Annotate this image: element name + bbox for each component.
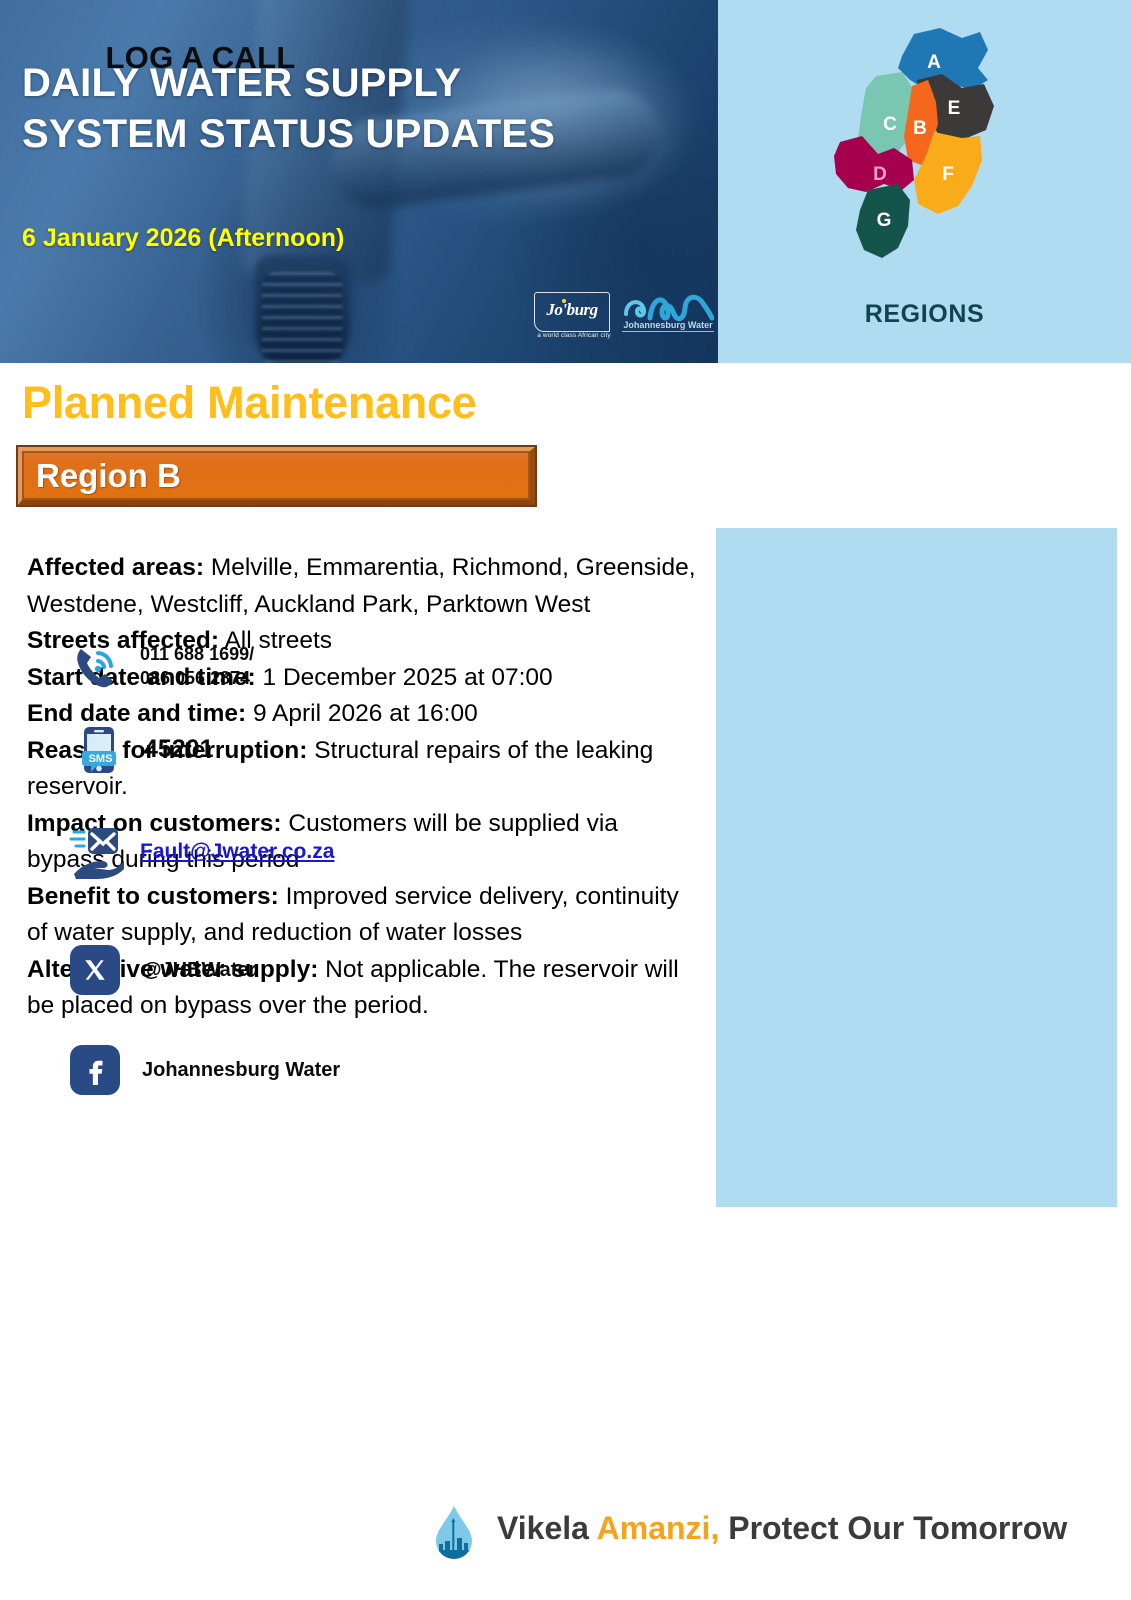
log-a-call-title: LOG A CALL (0, 40, 401, 76)
joburg-tagline: a world class African city (528, 332, 620, 339)
sms-number: 45201 (144, 735, 214, 764)
contact-row-email[interactable]: Fault@Jwater.co.za (68, 825, 334, 879)
region-banner-label: Region B (36, 457, 181, 495)
email-link[interactable]: Fault@Jwater.co.za (140, 840, 334, 864)
regions-caption: REGIONS (718, 300, 1131, 329)
region-e-label: E (948, 98, 961, 119)
contact-row-x[interactable]: @JHBWater (70, 945, 256, 995)
footer-slogan: Vikela Amanzi, Protect Our Tomorrow (497, 1510, 1067, 1547)
joburg-logo-dot (562, 299, 566, 303)
logo-group: Jo'burg a world class African city Johan… (534, 292, 714, 356)
section-title: Planned Maintenance (22, 377, 476, 429)
sms-icon: SMS (72, 722, 126, 776)
footer-slogan-part-1: Vikela (497, 1510, 597, 1546)
region-g-label: G (877, 210, 892, 231)
johannesburg-water-logo-icon: Johannesburg Water (622, 288, 714, 344)
johannesburg-water-logo-text: Johannesburg Water (622, 320, 714, 332)
region-banner: Region B (18, 447, 535, 505)
tap-rings-shape (262, 272, 342, 363)
phone-icon (68, 640, 122, 694)
contact-row-sms[interactable]: SMS 45201 (72, 722, 214, 776)
region-c-label: C (883, 114, 897, 135)
regions-map-icon: A E C B F D G (802, 14, 1052, 294)
region-b-label: B (913, 118, 927, 139)
region-f-label: F (942, 164, 954, 185)
notice-label: Benefit to customers: (27, 883, 279, 910)
facebook-icon (70, 1045, 120, 1095)
page-title-line-2: SYSTEM STATUS UPDATES (22, 109, 692, 160)
joburg-logo-text: Jo'burg (535, 300, 609, 320)
log-a-call-panel (716, 528, 1117, 1207)
email-hand-icon (68, 825, 122, 879)
svg-text:SMS: SMS (89, 753, 113, 765)
phone-numbers: 011 688 1699/ 086 056 2874 (140, 643, 254, 691)
facebook-page: Johannesburg Water (142, 1059, 340, 1082)
notice-label: Affected areas: (27, 554, 204, 581)
water-droplet-city-icon (432, 1504, 476, 1562)
footer-slogan-part-2: Protect Our Tomorrow (719, 1510, 1067, 1546)
joburg-logo-icon: Jo'burg (534, 292, 610, 332)
water-wave-icon (622, 288, 714, 322)
x-handle: @JHBWater (142, 959, 256, 982)
notice-value: 9 April 2026 at 16:00 (246, 700, 478, 727)
notice-value: 1 December 2025 at 07:00 (256, 664, 553, 691)
footer-slogan-accent: Amanzi, (597, 1510, 720, 1546)
regions-map-panel: A E C B F D G REGIONS (718, 0, 1131, 363)
contact-row-phone[interactable]: 011 688 1699/ 086 056 2874 (68, 640, 254, 694)
x-twitter-icon (70, 945, 120, 995)
contact-row-facebook[interactable]: Johannesburg Water (70, 1045, 340, 1095)
region-d-label: D (873, 164, 887, 185)
publication-date: 6 January 2026 (Afternoon) (22, 224, 344, 253)
region-a-label: A (927, 52, 941, 73)
